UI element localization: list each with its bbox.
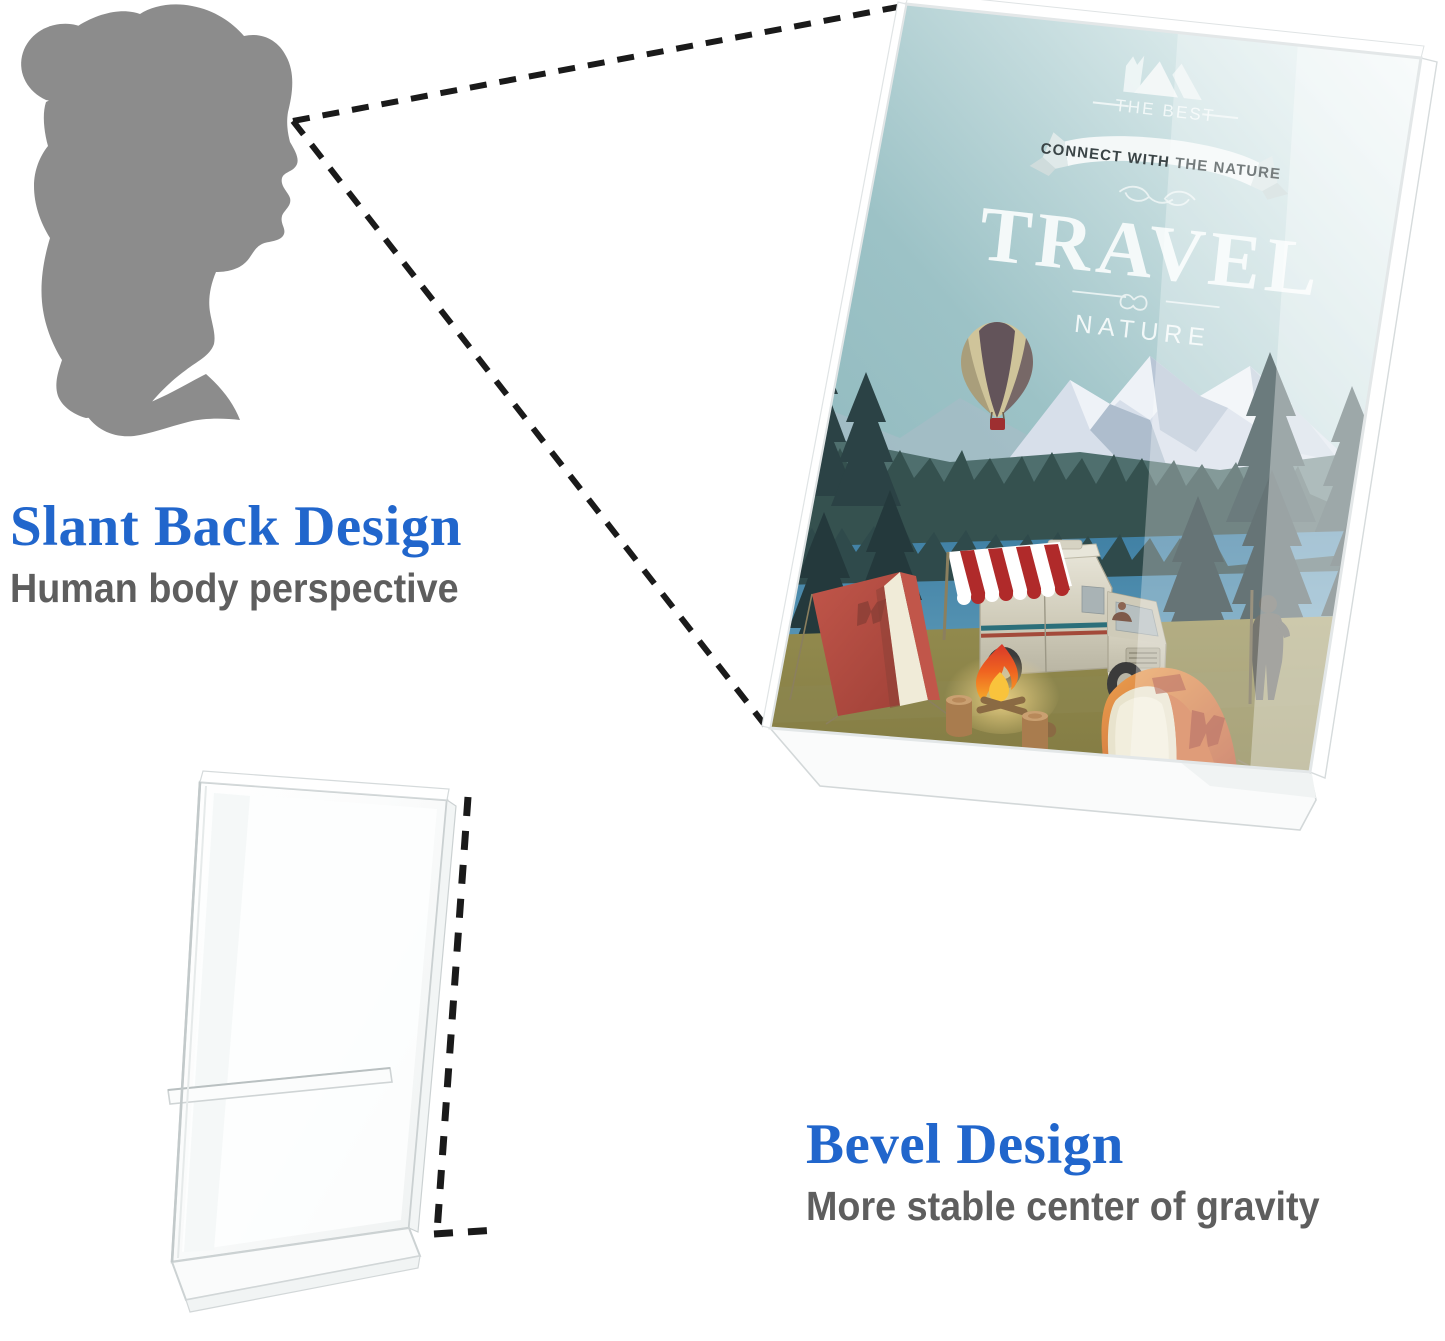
- tilt-line-base: [434, 1230, 497, 1234]
- feature-slant-subtitle: Human body perspective: [10, 567, 459, 610]
- sight-line-upper: [293, 6, 903, 121]
- log-stool-left: [946, 695, 972, 737]
- sight-line-lower: [293, 121, 768, 729]
- feature-slant-title: Slant Back Design: [10, 498, 498, 556]
- feature-bevel: Bevel Design More stable center of gravi…: [806, 1116, 1364, 1228]
- feature-bevel-title: Bevel Design: [806, 1116, 1364, 1174]
- head-silhouette-icon: [21, 4, 297, 436]
- empty-acrylic-sign-holder: [168, 771, 456, 1312]
- product-feature-graphic: THE BEST CONNECT WITH THE NATURE: [0, 0, 1445, 1341]
- feature-bevel-subtitle: More stable center of gravity: [806, 1185, 1320, 1228]
- acrylic-holder-with-poster: THE BEST CONNECT WITH THE NATURE: [696, 0, 1445, 830]
- feature-slant-back: Slant Back Design Human body perspective: [10, 498, 498, 610]
